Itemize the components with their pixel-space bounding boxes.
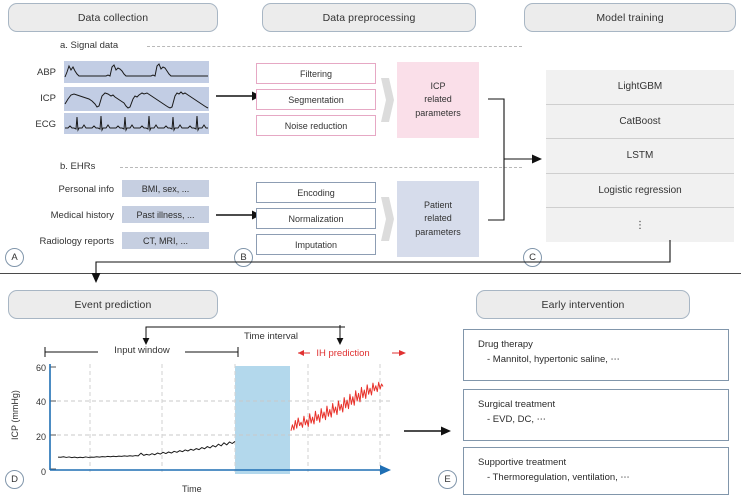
- signal-label-abp: ABP: [10, 68, 56, 78]
- chip-label: BMI, sex, ...: [142, 184, 190, 194]
- signal-waveform-icp: [64, 87, 209, 111]
- arrow-prediction-to-intervention: [404, 423, 452, 439]
- model-item-ellipsis: ⋮: [546, 207, 734, 242]
- intervention-title: Surgical treatment: [478, 398, 728, 412]
- connector-model-to-event-prediction: [88, 240, 688, 285]
- chevron-right-icon-signal: [379, 78, 395, 122]
- stage-header-model-training: Model training: [524, 3, 736, 32]
- preprocessing-step-filtering[interactable]: Filtering: [256, 63, 376, 84]
- model-item-logistic-regression[interactable]: Logistic regression: [546, 173, 734, 208]
- stage-label: Event prediction: [75, 299, 152, 311]
- param-line: related: [415, 212, 461, 225]
- preprocessing-step-noise-reduction[interactable]: Noise reduction: [256, 115, 376, 136]
- model-list-panel: LightGBM CatBoost LSTM Logistic regressi…: [546, 70, 734, 242]
- param-line: ICP: [415, 80, 461, 93]
- chevron-right-icon-ehr: [379, 197, 395, 241]
- preprocessing-step-normalization[interactable]: Normalization: [256, 208, 376, 229]
- model-label: ⋮: [635, 220, 645, 231]
- model-item-lightgbm[interactable]: LightGBM: [546, 70, 734, 104]
- stage-header-event-prediction: Event prediction: [8, 290, 218, 319]
- ehr-label-personal-info: Personal info: [10, 185, 114, 195]
- signal-section-divider: [147, 46, 522, 47]
- stage-header-early-intervention: Early intervention: [476, 290, 690, 319]
- step-label: Filtering: [300, 69, 332, 79]
- stage-label: Early intervention: [542, 299, 625, 311]
- bracket-ih-prediction: [296, 346, 408, 360]
- preprocessing-step-segmentation[interactable]: Segmentation: [256, 89, 376, 110]
- step-label: Noise reduction: [285, 121, 348, 131]
- ehr-value-medical-history: Past illness, ...: [122, 206, 209, 223]
- signal-label-icp: ICP: [10, 94, 56, 104]
- output-icp-related-parameters: ICP related parameters: [397, 62, 479, 138]
- step-label: Normalization: [288, 214, 343, 224]
- signal-waveform-abp: [64, 61, 209, 83]
- ehr-section-divider: [120, 167, 522, 168]
- intervention-detail: - EVD, DC, ⋯: [478, 412, 728, 427]
- panel-letter-e: E: [438, 470, 457, 489]
- step-label: Encoding: [297, 188, 335, 198]
- chip-label: Past illness, ...: [136, 210, 194, 220]
- ehr-value-personal-info: BMI, sex, ...: [122, 180, 209, 197]
- connector-ih-prediction-marker: [330, 325, 350, 347]
- preprocessing-step-encoding[interactable]: Encoding: [256, 182, 376, 203]
- model-label: LSTM: [627, 150, 654, 161]
- panel-letter-a: A: [5, 248, 24, 267]
- param-line: parameters: [415, 226, 461, 239]
- model-item-catboost[interactable]: CatBoost: [546, 104, 734, 139]
- intervention-title: Supportive treatment: [478, 456, 728, 470]
- panel-letter-d: D: [5, 470, 24, 489]
- ehr-section-label: b. EHRs: [60, 161, 95, 172]
- stage-label: Data collection: [78, 12, 148, 24]
- stage-header-data-collection: Data collection: [8, 3, 218, 32]
- annotation-input-window: Input window: [98, 345, 186, 356]
- model-item-lstm[interactable]: LSTM: [546, 138, 734, 173]
- chart-y-axis-label: ICP (mmHg): [10, 390, 20, 440]
- param-line: Patient: [415, 199, 461, 212]
- intervention-card-supportive-treatment[interactable]: Supportive treatment - Thermoregulation,…: [463, 447, 729, 495]
- signal-waveform-ecg: [64, 113, 209, 134]
- model-label: Logistic regression: [598, 185, 681, 196]
- connector-params-to-model-training: [488, 94, 544, 226]
- chart-x-axis-label: Time: [182, 484, 202, 494]
- signal-label-ecg: ECG: [10, 120, 56, 130]
- param-line: related: [415, 93, 461, 106]
- signal-data-section-label: a. Signal data: [60, 40, 118, 51]
- intervention-card-drug-therapy[interactable]: Drug therapy - Mannitol, hypertonic sali…: [463, 329, 729, 381]
- stage-label: Model training: [596, 12, 663, 24]
- chart-axes: [44, 362, 392, 484]
- ehr-label-medical-history: Medical history: [10, 211, 114, 221]
- param-line: parameters: [415, 107, 461, 120]
- stage-label: Data preprocessing: [323, 12, 416, 24]
- model-label: LightGBM: [618, 81, 662, 92]
- step-label: Segmentation: [288, 95, 344, 105]
- stage-header-data-preprocessing: Data preprocessing: [262, 3, 476, 32]
- intervention-card-surgical-treatment[interactable]: Surgical treatment - EVD, DC, ⋯: [463, 389, 729, 441]
- figure-canvas: Data collection Data preprocessing Model…: [0, 0, 741, 499]
- intervention-detail: - Mannitol, hypertonic saline, ⋯: [478, 352, 728, 367]
- intervention-title: Drug therapy: [478, 338, 728, 352]
- annotation-time-interval: Time interval: [240, 331, 302, 343]
- model-label: CatBoost: [619, 116, 660, 127]
- intervention-detail: - Thermoregulation, ventilation, ⋯: [478, 470, 728, 485]
